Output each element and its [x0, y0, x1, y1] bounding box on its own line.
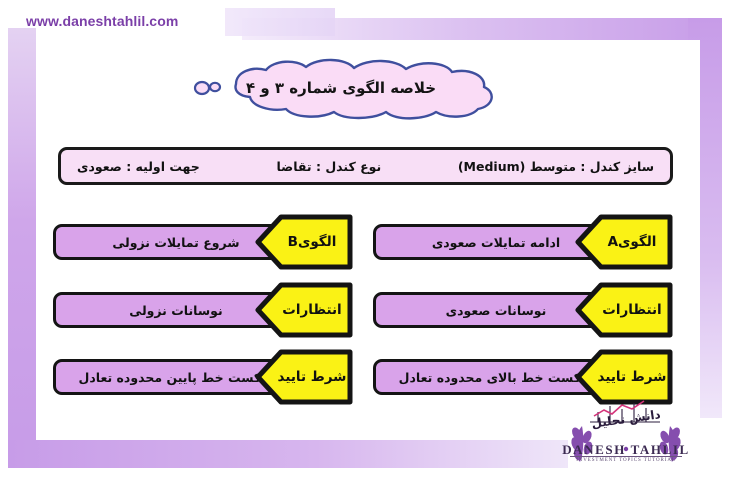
bar-pattern-a-confirmation: شکست خط بالای محدوده تعادل	[373, 359, 601, 395]
bar-pattern-b-confirmation: شکست خط پایین محدوده تعادل	[53, 359, 281, 395]
decorative-band-left	[8, 28, 36, 458]
arrow-tag-pattern-a: الگوی A	[575, 214, 673, 270]
info-cell-initial-direction: جهت اولیه : صعودی	[77, 159, 200, 174]
arrow-tag-confirmation-b: شرط تایید	[255, 349, 353, 405]
bar-text: نوسانات صعودی	[446, 303, 547, 318]
logo-brand-name: DANESH TAHLIL	[560, 442, 692, 458]
summary-info-bar: سایز کندل : متوسط (Medium) نوع کندل : تق…	[58, 147, 673, 185]
bar-pattern-a-title: ادامه تمایلات صعودی	[373, 224, 601, 260]
arrow-tag-expectation-b: انتظارات	[255, 282, 353, 338]
info-cell-candle-type: نوع کندل : تقاضا	[276, 159, 381, 174]
brand-logo: دانش تحلیل DANESH TAHLIL INVESTMENT TOPI…	[560, 392, 692, 474]
row-pattern-b-confirmation: شکست خط پایین محدوده تعادل شرط تایید	[53, 349, 353, 405]
arrow-tag-expectation-a: انتظارات	[575, 282, 673, 338]
bar-text: شروع تمایلات نزولی	[112, 235, 239, 250]
bar-pattern-a-expectation: نوسانات صعودی	[373, 292, 601, 328]
bar-pattern-b-title: شروع تمایلات نزولی	[53, 224, 281, 260]
decorative-band-bottom	[8, 440, 568, 468]
site-url-watermark: www.daneshtahlil.com	[26, 13, 178, 29]
bar-pattern-b-expectation: نوسانات نزولی	[53, 292, 281, 328]
bar-text: شکست خط بالای محدوده تعادل	[399, 370, 594, 385]
decorative-header-block	[225, 8, 335, 36]
logo-tagline: INVESTMENT TOPICS TUTORIAL	[560, 458, 692, 463]
slide-canvas: www.daneshtahlil.com خلاصه الگوی شماره ۳…	[0, 0, 730, 480]
info-cell-candle-size: سایز کندل : متوسط (Medium)	[458, 159, 654, 174]
arrow-tag-pattern-b: الگوی B	[255, 214, 353, 270]
bar-text: شکست خط پایین محدوده تعادل	[79, 370, 274, 385]
row-pattern-b-title: شروع تمایلات نزولی الگوی B	[53, 214, 353, 270]
row-pattern-a-title: ادامه تمایلات صعودی الگوی A	[373, 214, 673, 270]
title-cloud: خلاصه الگوی شماره ۳ و ۴	[178, 54, 530, 122]
row-pattern-a-expectation: نوسانات صعودی انتظارات	[373, 282, 673, 338]
row-pattern-b-expectation: نوسانات نزولی انتظارات	[53, 282, 353, 338]
bar-text: نوسانات نزولی	[129, 303, 222, 318]
bar-text: ادامه تمایلات صعودی	[432, 235, 560, 250]
